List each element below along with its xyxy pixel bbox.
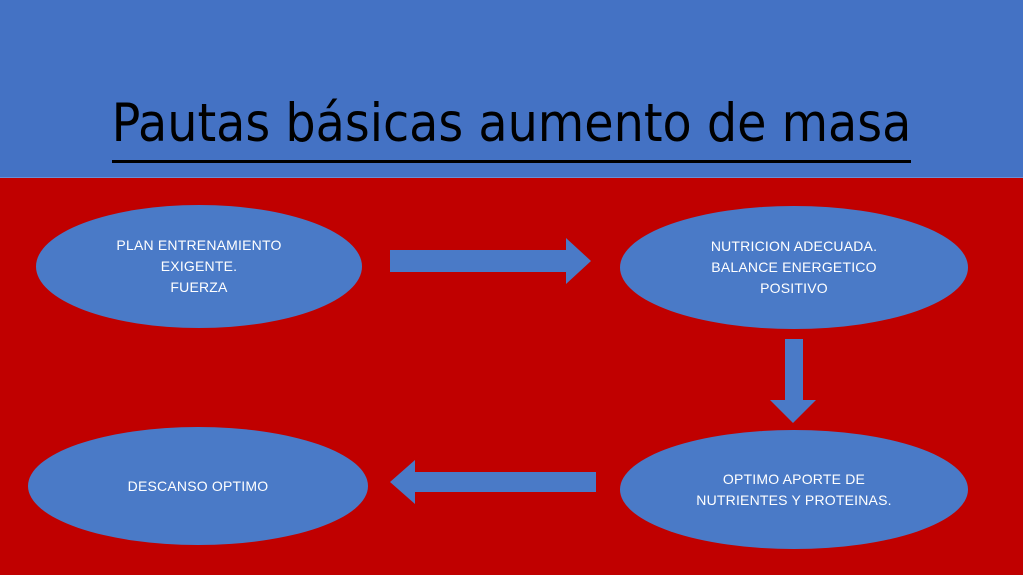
diagram-node-nutricion-label: NUTRICION ADECUADA. BALANCE ENERGETICO P… <box>685 236 903 299</box>
diagram-node-aporte-label: OPTIMO APORTE DE NUTRIENTES Y PROTEINAS. <box>670 469 917 511</box>
arrow-down-icon <box>770 339 816 424</box>
arrow-right-icon <box>390 238 592 284</box>
slide-canvas: Pautas básicas aumento de masa muscular … <box>0 0 1023 575</box>
diagram-node-aporte[interactable]: OPTIMO APORTE DE NUTRIENTES Y PROTEINAS. <box>620 430 968 549</box>
arrow-left-icon <box>390 460 596 504</box>
diagram-node-descanso-label: DESCANSO OPTIMO <box>102 476 295 497</box>
diagram-node-plan-label: PLAN ENTRENAMIENTO EXIGENTE. FUERZA <box>90 235 307 298</box>
diagram-node-plan[interactable]: PLAN ENTRENAMIENTO EXIGENTE. FUERZA <box>36 205 362 328</box>
page-title-line-1: Pautas básicas aumento de masa <box>112 90 912 163</box>
diagram-node-nutricion[interactable]: NUTRICION ADECUADA. BALANCE ENERGETICO P… <box>620 206 968 329</box>
diagram-node-descanso[interactable]: DESCANSO OPTIMO <box>28 427 368 545</box>
